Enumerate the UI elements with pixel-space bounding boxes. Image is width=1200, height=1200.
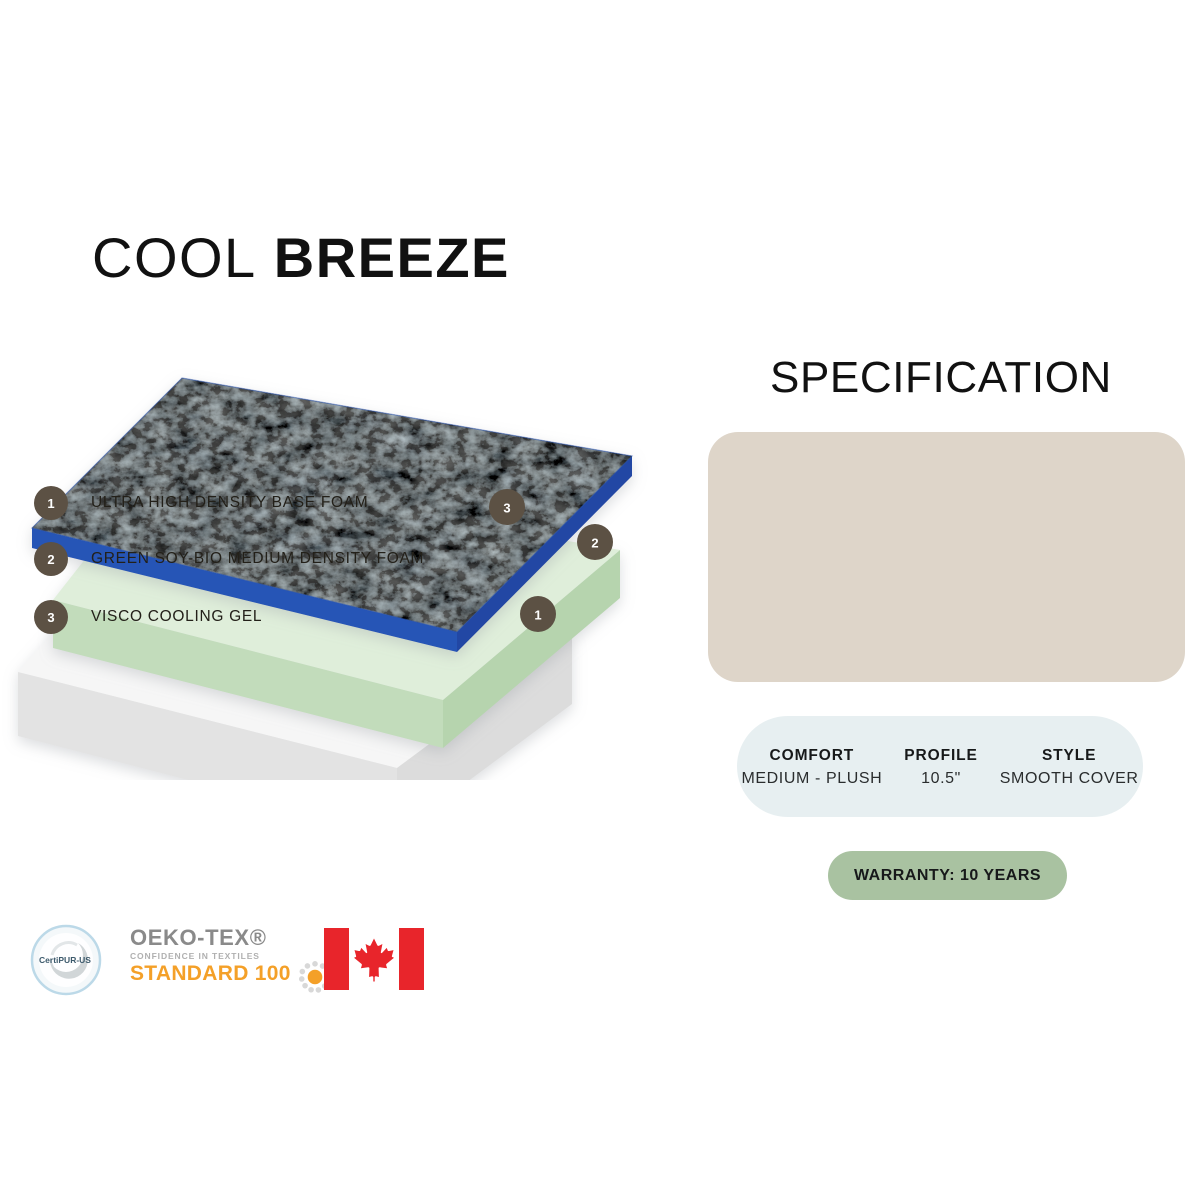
spec-label-3: VISCO COOLING GEL: [91, 608, 262, 626]
layer-callout-badge-2: 2: [577, 524, 613, 560]
comfort-profile-style-panel: COMFORT MEDIUM - PLUSH PROFILE 10.5" STY…: [737, 716, 1143, 817]
style-value: SMOOTH COVER: [1000, 770, 1139, 788]
certipur-us-icon: CertiPUR-US: [28, 922, 104, 998]
spec-item-2: 2 GREEN SOY-BIO MEDIUM DENSITY FOAM: [34, 542, 424, 576]
comfort-column: COMFORT MEDIUM - PLUSH: [741, 747, 882, 788]
svg-text:3: 3: [503, 501, 510, 516]
spec-badge-2: 2: [34, 542, 68, 576]
svg-text:1: 1: [534, 608, 541, 623]
oeko-tex-line1: OEKO-TEX®: [130, 926, 326, 950]
svg-text:2: 2: [591, 536, 598, 551]
profile-value: 10.5": [921, 770, 961, 788]
page-title: COOL BREEZE: [92, 226, 510, 290]
spec-item-3: 3 VISCO COOLING GEL: [34, 600, 262, 634]
product-title-bold: BREEZE: [274, 226, 510, 289]
style-column: STYLE SMOOTH COVER: [1000, 747, 1139, 788]
warranty-label: WARRANTY: 10 YEARS: [854, 867, 1041, 885]
profile-header: PROFILE: [904, 747, 977, 765]
layer-callout-badge-1: 1: [520, 596, 556, 632]
oeko-tex-line2: CONFIDENCE IN TEXTILES: [130, 950, 326, 962]
oeko-tex-standard-100-icon: OEKO-TEX® CONFIDENCE IN TEXTILES STANDAR…: [130, 926, 326, 994]
warranty-badge: WARRANTY: 10 YEARS: [828, 851, 1067, 900]
spec-label-2: GREEN SOY-BIO MEDIUM DENSITY FOAM: [91, 550, 424, 568]
certipur-text: CertiPUR-US: [39, 955, 91, 965]
layer-callout-badge-3: 3: [489, 489, 525, 525]
specification-heading: SPECIFICATION: [770, 352, 1112, 404]
comfort-value: MEDIUM - PLUSH: [741, 770, 882, 788]
comfort-header: COMFORT: [770, 747, 855, 765]
oeko-tex-line3: STANDARD 100: [130, 962, 326, 986]
spec-label-1: ULTRA HIGH DENSITY BASE FOAM: [91, 494, 368, 512]
spec-badge-3: 3: [34, 600, 68, 634]
specification-panel: [708, 432, 1185, 682]
product-title-light: COOL: [92, 226, 257, 289]
profile-column: PROFILE 10.5": [904, 747, 977, 788]
spec-badge-1: 1: [34, 486, 68, 520]
spec-item-1: 1 ULTRA HIGH DENSITY BASE FOAM: [34, 486, 368, 520]
style-header: STYLE: [1042, 747, 1096, 765]
certification-logos: CertiPUR-US OEKO-TEX® CONFIDENCE IN TEXT…: [22, 918, 442, 1004]
canada-flag-icon: [324, 928, 424, 990]
